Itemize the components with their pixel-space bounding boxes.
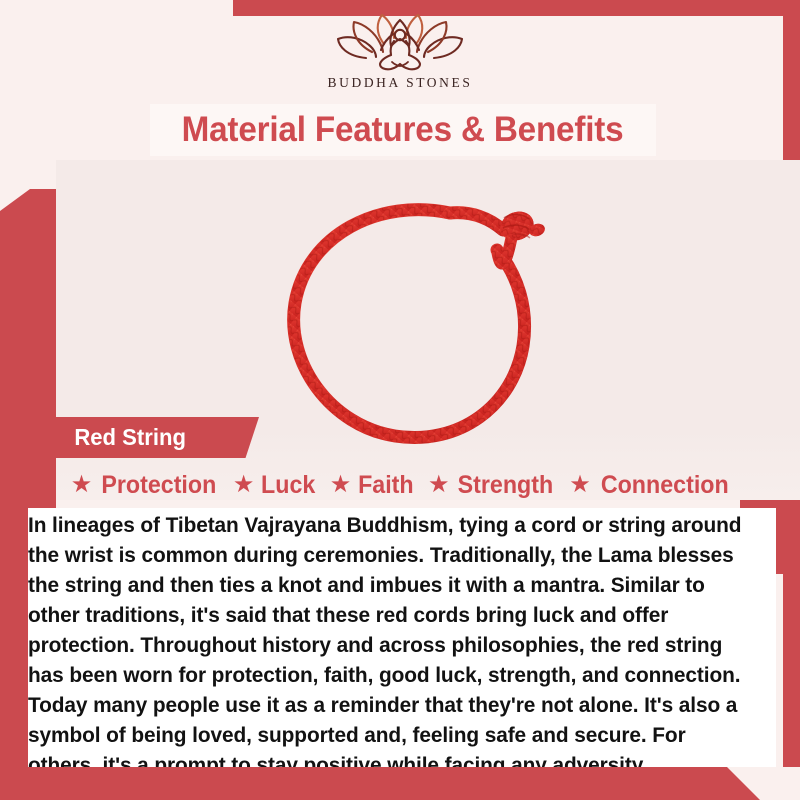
feature-item-faith: ★ Faith <box>325 471 421 500</box>
feature-label: Luck <box>261 471 315 500</box>
product-name-banner: Red String <box>34 417 259 458</box>
feature-label: Connection <box>601 471 729 500</box>
feature-label: Protection <box>102 471 217 500</box>
poster-canvas: BUDDHA STONES Material Features & Benefi… <box>0 0 800 800</box>
feature-item-luck: ★ Luck <box>228 471 323 500</box>
feature-label: Strength <box>458 471 554 500</box>
product-name-label: Red String <box>74 424 186 451</box>
lotus-meditation-figure-icon <box>336 12 464 74</box>
description-text: In lineages of Tibetan Vajrayana Buddhis… <box>28 510 754 780</box>
star-icon: ★ <box>569 473 591 497</box>
feature-list: ★ Protection ★ Luck ★ Faith ★ Strength ★… <box>28 466 776 504</box>
feature-item-connection: ★ Connection <box>564 471 738 500</box>
frame-bottom-red-bar <box>0 767 800 800</box>
description-panel: In lineages of Tibetan Vajrayana Buddhis… <box>28 508 776 768</box>
feature-item-protection: ★ Protection <box>66 471 226 500</box>
brand-logo: BUDDHA STONES <box>0 12 800 102</box>
red-string-bracelet-image <box>245 168 585 468</box>
title-band: Material Features & Benefits <box>150 104 656 156</box>
star-icon: ★ <box>233 473 255 497</box>
brand-name: BUDDHA STONES <box>328 75 473 91</box>
feature-label: Faith <box>358 471 414 500</box>
star-icon: ★ <box>428 473 450 497</box>
star-icon: ★ <box>330 473 352 497</box>
feature-item-strength: ★ Strength <box>423 471 562 500</box>
page-title: Material Features & Benefits <box>182 110 624 150</box>
star-icon: ★ <box>71 473 93 497</box>
adjustable-knot <box>496 207 546 246</box>
